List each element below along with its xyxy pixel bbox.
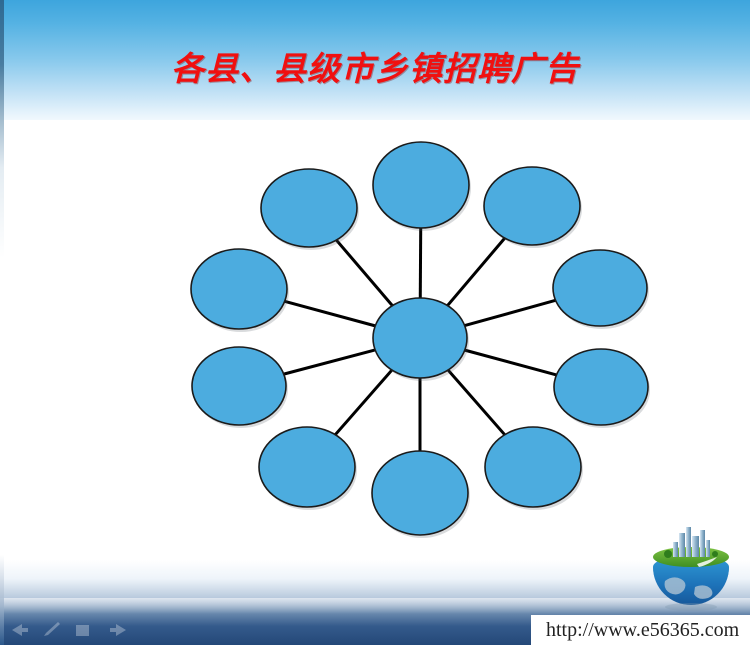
node-ellipse[interactable]	[259, 427, 355, 507]
diagram-edge	[335, 370, 392, 435]
node-ellipse[interactable]	[372, 451, 468, 535]
diagram-node[interactable]	[192, 347, 288, 428]
diagram-node[interactable]	[373, 142, 471, 231]
diagram-node[interactable]	[485, 427, 583, 510]
diagram-node[interactable]	[372, 451, 470, 538]
node-ellipse[interactable]	[191, 249, 287, 329]
globe-shadow	[665, 603, 717, 611]
node-ellipse[interactable]	[192, 347, 286, 425]
node-ellipse[interactable]	[373, 142, 469, 228]
watermark-url: http://www.e56365.com	[546, 619, 739, 642]
diagram-node[interactable]	[484, 167, 582, 248]
node-ellipse[interactable]	[554, 349, 648, 425]
radial-hub-spoke-diagram	[0, 0, 750, 645]
diagram-edge	[465, 300, 556, 325]
diagram-node[interactable]	[261, 169, 359, 250]
diagram-node[interactable]	[259, 427, 357, 510]
stop-square-icon	[76, 625, 89, 636]
diagram-edge	[284, 350, 375, 374]
forward-arrow-icon	[110, 624, 126, 636]
diagram-edge	[465, 350, 557, 375]
earth-city-globe-graphic	[645, 521, 737, 613]
bottom-toolbar-icons	[8, 620, 148, 640]
node-ellipse[interactable]	[553, 250, 647, 326]
diagram-center-node[interactable]	[373, 298, 469, 381]
diagram-node[interactable]	[553, 250, 649, 329]
node-ellipse[interactable]	[485, 427, 581, 507]
node-ellipse[interactable]	[484, 167, 580, 245]
back-arrow-icon	[12, 624, 28, 636]
diagram-nodes-layer	[191, 142, 650, 538]
diagram-node[interactable]	[191, 249, 289, 332]
node-ellipse[interactable]	[261, 169, 357, 247]
diagram-edge	[448, 370, 505, 435]
node-ellipse[interactable]	[373, 298, 467, 378]
diagram-edge	[448, 238, 505, 305]
diagram-node[interactable]	[554, 349, 650, 428]
slide-canvas: 各县、县级市乡镇招聘广告	[0, 0, 750, 645]
pencil-icon	[44, 622, 60, 636]
diagram-edge	[285, 301, 376, 326]
diagram-edge	[336, 240, 392, 306]
